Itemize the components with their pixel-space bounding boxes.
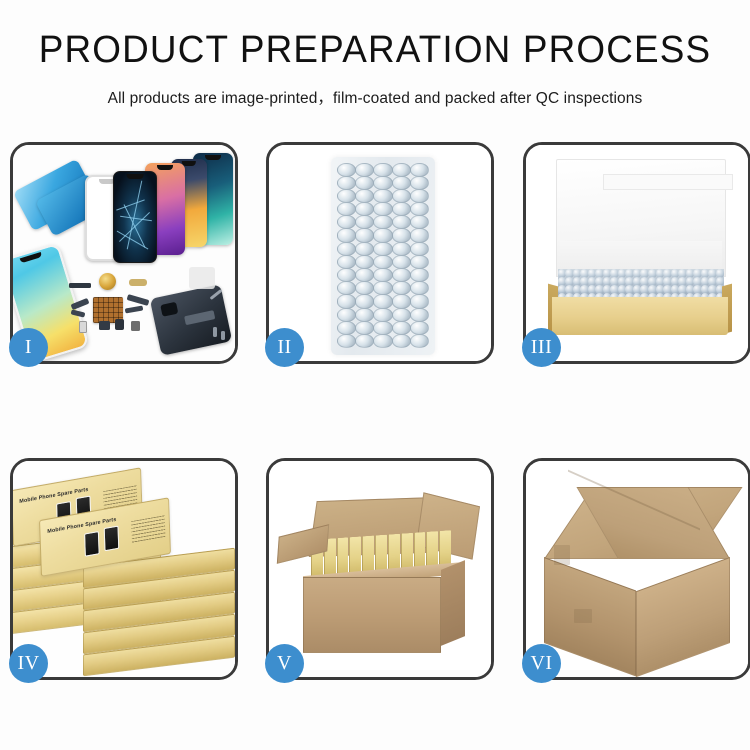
bubble xyxy=(410,281,429,295)
bubble xyxy=(337,228,356,242)
panel-5-image xyxy=(269,461,491,677)
bubble xyxy=(355,228,374,242)
bubble xyxy=(355,268,374,282)
box-lid-tab xyxy=(603,174,733,190)
bubble xyxy=(410,228,429,242)
bubble xyxy=(410,215,429,229)
carton-flap-tab xyxy=(574,609,592,623)
screw-part xyxy=(221,331,225,340)
panel-3-image xyxy=(526,145,748,361)
bubble xyxy=(392,321,411,335)
bubble xyxy=(337,281,356,295)
bubble xyxy=(373,189,392,203)
bubble-grid xyxy=(337,163,429,349)
bubble xyxy=(392,294,411,308)
bubble xyxy=(337,189,356,203)
scene-open-box-with-bubble-wrap xyxy=(526,145,748,361)
bubble xyxy=(355,202,374,216)
bubble xyxy=(373,294,392,308)
process-step-grid: I II III xyxy=(10,142,741,722)
page-header: PRODUCT PREPARATION PROCESS All products… xyxy=(0,0,750,108)
bubble xyxy=(392,176,411,190)
small-part xyxy=(79,321,87,333)
bubble xyxy=(410,334,429,348)
flex-cable-part xyxy=(127,294,150,306)
bubble xyxy=(337,176,356,190)
step-badge-4: IV xyxy=(9,644,48,683)
phone-notch-icon xyxy=(127,174,144,179)
process-step-panel-4[interactable]: Mobile Phone Spare Parts Mobile Phone Sp… xyxy=(10,458,238,680)
phone-notch-icon xyxy=(205,155,221,160)
bubble xyxy=(337,242,356,256)
bubble xyxy=(410,189,429,203)
crack-line xyxy=(116,199,145,210)
small-part xyxy=(131,321,140,331)
process-step-panel-1[interactable]: I xyxy=(10,142,238,364)
phone-notch-icon xyxy=(182,161,196,166)
bubble xyxy=(373,215,392,229)
box-spec-lines xyxy=(131,515,165,543)
bubble xyxy=(410,268,429,282)
bubble xyxy=(355,163,374,177)
bubble xyxy=(337,163,356,177)
phone-notch-icon xyxy=(157,165,173,170)
panel-2-image xyxy=(269,145,491,361)
small-part xyxy=(69,283,91,288)
step-badge-5: V xyxy=(265,644,304,683)
bubble xyxy=(373,228,392,242)
bubble xyxy=(355,294,374,308)
small-part xyxy=(115,319,124,330)
bubble-wrap-sheet xyxy=(331,157,435,355)
bubble xyxy=(410,242,429,256)
process-step-panel-6[interactable]: VI xyxy=(523,458,750,680)
bubble xyxy=(392,281,411,295)
carton-flap-tab xyxy=(554,545,570,565)
bubble xyxy=(337,321,356,335)
bubble xyxy=(410,176,429,190)
bubble xyxy=(355,242,374,256)
scene-products-and-parts xyxy=(13,145,235,361)
bubble xyxy=(392,268,411,282)
small-part xyxy=(99,321,110,330)
bubble xyxy=(337,308,356,322)
page-title: PRODUCT PREPARATION PROCESS xyxy=(11,30,739,72)
bubble xyxy=(392,163,411,177)
box-front-panel xyxy=(552,297,728,335)
bubble xyxy=(410,163,429,177)
bubble xyxy=(337,215,356,229)
bubble xyxy=(373,163,392,177)
bubble xyxy=(392,242,411,256)
bubble xyxy=(373,281,392,295)
panel-6-image xyxy=(526,461,748,677)
bubble xyxy=(392,202,411,216)
bubble xyxy=(355,334,374,348)
carton-front-panel xyxy=(303,577,441,653)
bubble xyxy=(410,202,429,216)
bubble xyxy=(410,321,429,335)
step-badge-3: III xyxy=(522,328,561,367)
panel-1-image xyxy=(13,145,235,361)
camera-module-icon xyxy=(160,302,178,317)
bubble xyxy=(337,294,356,308)
bubble xyxy=(355,189,374,203)
bubble xyxy=(373,334,392,348)
bubble xyxy=(355,308,374,322)
bubble xyxy=(373,321,392,335)
bubble xyxy=(373,308,392,322)
phone-back-housing xyxy=(150,284,232,356)
bubble xyxy=(392,228,411,242)
scene-stacked-retail-boxes: Mobile Phone Spare Parts Mobile Phone Sp… xyxy=(13,461,235,677)
bubble xyxy=(392,334,411,348)
bubble xyxy=(392,189,411,203)
process-step-panel-2[interactable]: II xyxy=(266,142,494,364)
bubble xyxy=(373,202,392,216)
bubble xyxy=(355,255,374,269)
screw-part xyxy=(213,327,217,337)
box-phone-image xyxy=(104,525,120,551)
page-subtitle: All products are image-printed，film-coat… xyxy=(0,86,750,108)
bubble xyxy=(373,176,392,190)
bubble xyxy=(392,308,411,322)
bubble xyxy=(355,321,374,335)
bubble xyxy=(355,215,374,229)
bubble xyxy=(373,255,392,269)
small-part xyxy=(129,279,147,286)
bubble xyxy=(410,255,429,269)
bubble xyxy=(392,215,411,229)
panel-4-image: Mobile Phone Spare Parts Mobile Phone Sp… xyxy=(13,461,235,677)
bubble xyxy=(355,281,374,295)
bubble xyxy=(410,308,429,322)
bubble xyxy=(355,176,374,190)
step-badge-1: I xyxy=(9,328,48,367)
tool-part xyxy=(189,267,215,289)
crack-line xyxy=(120,216,152,222)
bubble xyxy=(337,268,356,282)
scene-bubble-wrapped-product xyxy=(269,145,491,361)
process-step-panel-3[interactable]: III xyxy=(523,142,750,364)
bubble xyxy=(337,334,356,348)
phone-notch-icon xyxy=(20,252,43,263)
bubble xyxy=(392,255,411,269)
flex-cable-part xyxy=(125,305,144,313)
bubble xyxy=(410,294,429,308)
carton-side-right xyxy=(441,560,465,646)
carton-right-face xyxy=(636,557,730,677)
step-badge-2: II xyxy=(265,328,304,367)
scene-sealed-carton xyxy=(526,461,748,677)
black-cracked-screen xyxy=(113,171,157,263)
box-phone-image xyxy=(84,531,100,557)
bubble xyxy=(373,268,392,282)
scene-open-carton xyxy=(269,461,491,677)
bubble xyxy=(337,202,356,216)
bubble xyxy=(337,255,356,269)
process-step-panel-5[interactable]: V xyxy=(266,458,494,680)
bubble xyxy=(373,242,392,256)
housing-strip xyxy=(184,310,215,325)
copper-coil-part xyxy=(99,273,116,290)
step-badge-6: VI xyxy=(522,644,561,683)
